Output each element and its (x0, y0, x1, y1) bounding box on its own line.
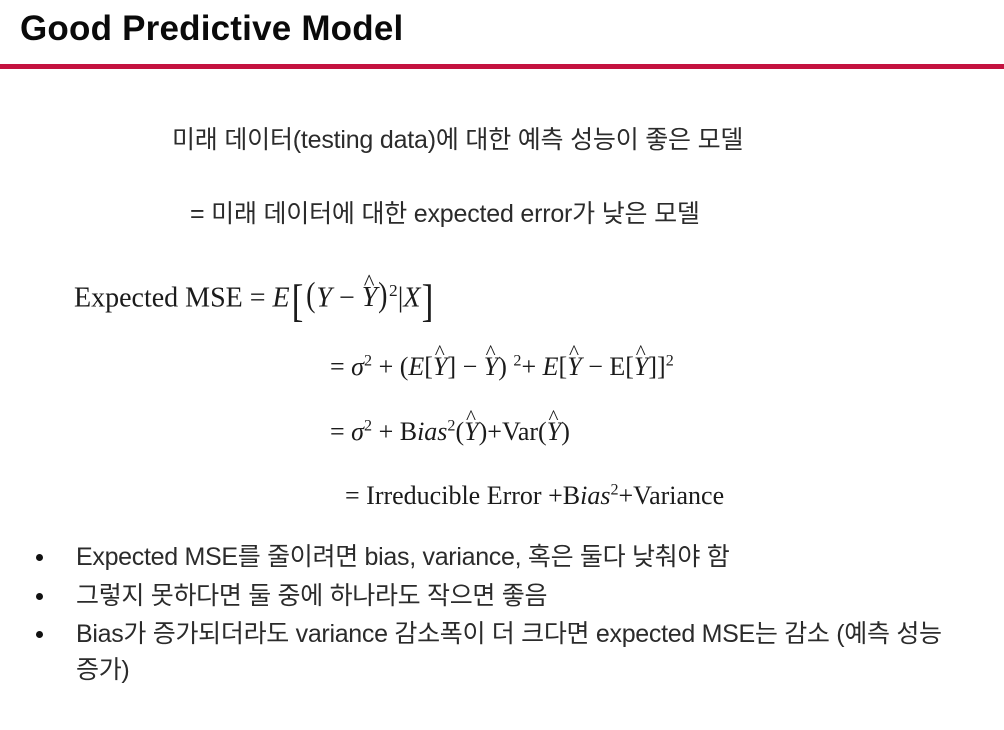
equals-sign-2: = (330, 352, 345, 381)
equation-lhs-label: Expected MSE (74, 282, 243, 313)
equals-sign: = (250, 282, 266, 313)
predicted-value-Yhat: ^Y (362, 282, 378, 314)
sigma-exponent-2: 2 (364, 352, 372, 369)
minus-sign-3: − (588, 352, 603, 381)
equals-sign-3: = (330, 417, 345, 446)
slide-canvas: Good Predictive Model 미래 데이터(testing dat… (0, 0, 1004, 730)
paren-close: ) (379, 275, 388, 315)
variance-term: Var (502, 417, 538, 446)
title-divider (0, 64, 1004, 69)
sigma-symbol-2: σ (351, 352, 364, 381)
bullet-dot-icon (36, 593, 43, 600)
Yhat-3a: ^Y (464, 417, 478, 447)
Yhat-2a: ^Y (433, 352, 447, 382)
list-item: Bias가 증가되더라도 variance 감소폭이 더 크다면 expecte… (0, 617, 1004, 688)
paren-open: ( (306, 275, 315, 315)
equation-line-2: = σ2 + (E[^Y] − ^Y) 2+ E[^Y − E[^Y]]2 (330, 352, 674, 382)
hat-accent-2d: ^ (636, 342, 646, 363)
list-item: 그렇지 못하다면 둘 중에 하나라도 작으면 좋음 (0, 579, 1004, 615)
exponent-two-3: 2 (666, 352, 674, 369)
expectation-operator-3: E (543, 352, 559, 381)
Yhat-2c: ^Y (567, 352, 581, 382)
bullet-text-2: 그렇지 못하다면 둘 중에 하나라도 작으면 좋음 (76, 579, 547, 615)
statement-line-1: 미래 데이터(testing data)에 대한 예측 성능이 좋은 모델 (172, 120, 743, 156)
equation-line-1: Expected MSE = E[(Y − ^Y)2|X] (74, 275, 436, 327)
minus-sign-2: − (463, 352, 478, 381)
expectation-operator-4: E (609, 352, 625, 381)
bullet-text-1: Expected MSE를 줄이려면 bias, variance, 혹은 둘다… (76, 540, 729, 576)
Yhat-2d: ^Y (634, 352, 648, 382)
hat-accent-2b: ^ (486, 342, 496, 363)
plus-sign-2a: + (379, 352, 394, 381)
bias-term-B-4: B (563, 481, 580, 510)
bias-exponent-4: 2 (610, 481, 618, 498)
plus-sign-4b: + (619, 481, 634, 510)
hat-accent-2a: ^ (435, 342, 445, 363)
equation-line-3: = σ2 + Bias2(^Y)+Var(^Y) (330, 417, 570, 447)
bias-term-ias: ias (417, 417, 447, 446)
list-item: Expected MSE를 줄이려면 bias, variance, 혹은 둘다… (0, 540, 1004, 576)
bullet-dot-icon (36, 631, 43, 638)
expectation-operator: E (273, 282, 290, 313)
bullet-dot-icon (36, 554, 43, 561)
bias-term-ias-4: ias (580, 481, 610, 510)
minus-sign: − (339, 282, 355, 313)
sigma-exponent-3: 2 (364, 417, 372, 434)
statement-line-2: = 미래 데이터에 대한 expected error가 낮은 모델 (190, 194, 700, 230)
hat-accent: ^ (364, 272, 375, 295)
bias-exponent: 2 (447, 417, 455, 434)
exponent-two: 2 (389, 281, 398, 300)
bracket-open: [ (291, 275, 303, 327)
sigma-symbol-3: σ (351, 417, 364, 446)
hat-accent-3b: ^ (549, 407, 559, 428)
page-title: Good Predictive Model (20, 9, 403, 49)
Yhat-3b: ^Y (547, 417, 561, 447)
bullet-text-3: Bias가 증가되더라도 variance 감소폭이 더 크다면 expecte… (76, 617, 956, 688)
bullet-list: Expected MSE를 줄이려면 bias, variance, 혹은 둘다… (0, 540, 1004, 691)
conditioning-X: X (403, 282, 420, 313)
expectation-operator-2: E (408, 352, 424, 381)
equation-line-4: = Irreducible Error +Bias2+Variance (345, 481, 724, 511)
equals-sign-4: = (345, 481, 360, 510)
bracket-close: ] (422, 275, 434, 327)
hat-accent-3a: ^ (466, 407, 476, 428)
bias-term-B: B (400, 417, 417, 446)
hat-accent-2c: ^ (569, 342, 579, 363)
plus-sign-2b: + (521, 352, 536, 381)
plus-sign-4a: + (548, 481, 563, 510)
Yhat-2b: ^Y (484, 352, 498, 382)
irreducible-error-term: Irreducible Error (366, 481, 541, 510)
true-value-Y: Y (316, 282, 332, 313)
variance-term-4: Variance (633, 481, 724, 510)
plus-sign-3: + (379, 417, 394, 446)
paren-close-2: ) (498, 352, 507, 381)
